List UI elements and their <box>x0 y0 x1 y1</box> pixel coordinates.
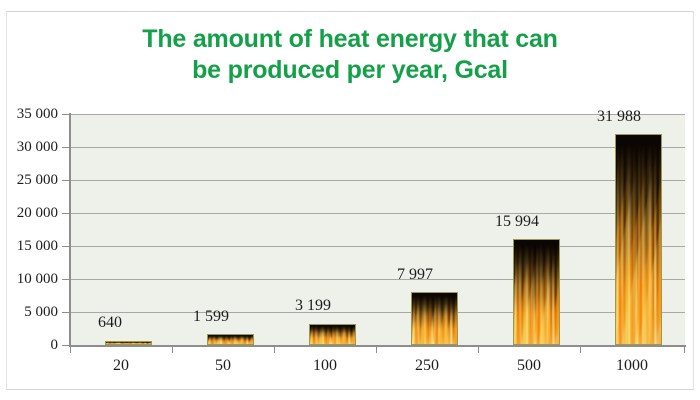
y-axis-tick <box>62 345 70 346</box>
y-axis-label-0: 0 <box>0 338 58 353</box>
bar-flame-tips <box>514 240 559 344</box>
y-axis-label-20000: 20 000 <box>0 206 58 221</box>
x-axis-label-1000: 1000 <box>580 357 684 375</box>
bar-value-label-250: 7 997 <box>382 266 448 283</box>
bar-value-label-500: 15 994 <box>480 213 554 230</box>
bar-flame-tips <box>106 342 151 344</box>
y-axis-label-25000: 25 000 <box>0 173 58 188</box>
bar-100[interactable] <box>309 324 356 345</box>
x-axis-label-500: 500 <box>478 357 580 375</box>
bar-1000[interactable] <box>615 134 662 345</box>
bar-50[interactable] <box>207 334 254 345</box>
bar-value-label-20: 640 <box>80 314 140 331</box>
heat-energy-bar-chart: The amount of heat energy that can be pr… <box>0 0 700 400</box>
y-axis-tick <box>62 213 70 214</box>
bar-flame-tips <box>616 135 661 344</box>
gridline <box>70 180 685 181</box>
frame-border-bottom <box>6 389 694 390</box>
frame-border-top <box>6 11 694 12</box>
y-axis-tick <box>62 114 70 115</box>
y-axis-tick <box>62 246 70 247</box>
y-axis-label-15000: 15 000 <box>0 239 58 254</box>
y-axis-tick <box>62 180 70 181</box>
bar-500[interactable] <box>513 239 560 345</box>
gridline <box>70 279 685 280</box>
gridline <box>70 246 685 247</box>
x-axis-tick <box>684 346 685 353</box>
bar-flame-tips <box>310 325 355 344</box>
plot-area <box>70 114 685 345</box>
x-axis-label-50: 50 <box>172 357 274 375</box>
chart-title: The amount of heat energy that can be pr… <box>0 24 700 86</box>
y-axis-label-5000: 5 000 <box>0 305 58 320</box>
x-axis-tick <box>580 346 581 353</box>
gridline <box>70 312 685 313</box>
y-axis-tick <box>62 279 70 280</box>
y-axis-label-30000: 30 000 <box>0 140 58 155</box>
x-axis-tick <box>376 346 377 353</box>
bar-250[interactable] <box>411 292 458 345</box>
x-axis-line <box>69 345 686 347</box>
x-axis-label-20: 20 <box>70 357 172 375</box>
y-axis-tick <box>62 147 70 148</box>
y-axis-label-10000: 10 000 <box>0 272 58 287</box>
x-axis-tick <box>172 346 173 353</box>
x-axis-tick <box>70 346 71 353</box>
y-axis-tick <box>62 312 70 313</box>
bar-value-label-100: 3 199 <box>280 297 346 314</box>
x-axis-tick <box>274 346 275 353</box>
bar-flame-tips <box>412 293 457 344</box>
bar-flame-tips <box>208 335 253 344</box>
gridline <box>70 213 685 214</box>
x-axis-tick <box>478 346 479 353</box>
x-axis-label-250: 250 <box>376 357 478 375</box>
gridline <box>70 147 685 148</box>
y-axis-label-35000: 35 000 <box>0 107 58 122</box>
bar-value-label-1000: 31 988 <box>582 108 656 125</box>
bar-value-label-50: 1 599 <box>178 308 244 325</box>
x-axis-label-100: 100 <box>274 357 376 375</box>
